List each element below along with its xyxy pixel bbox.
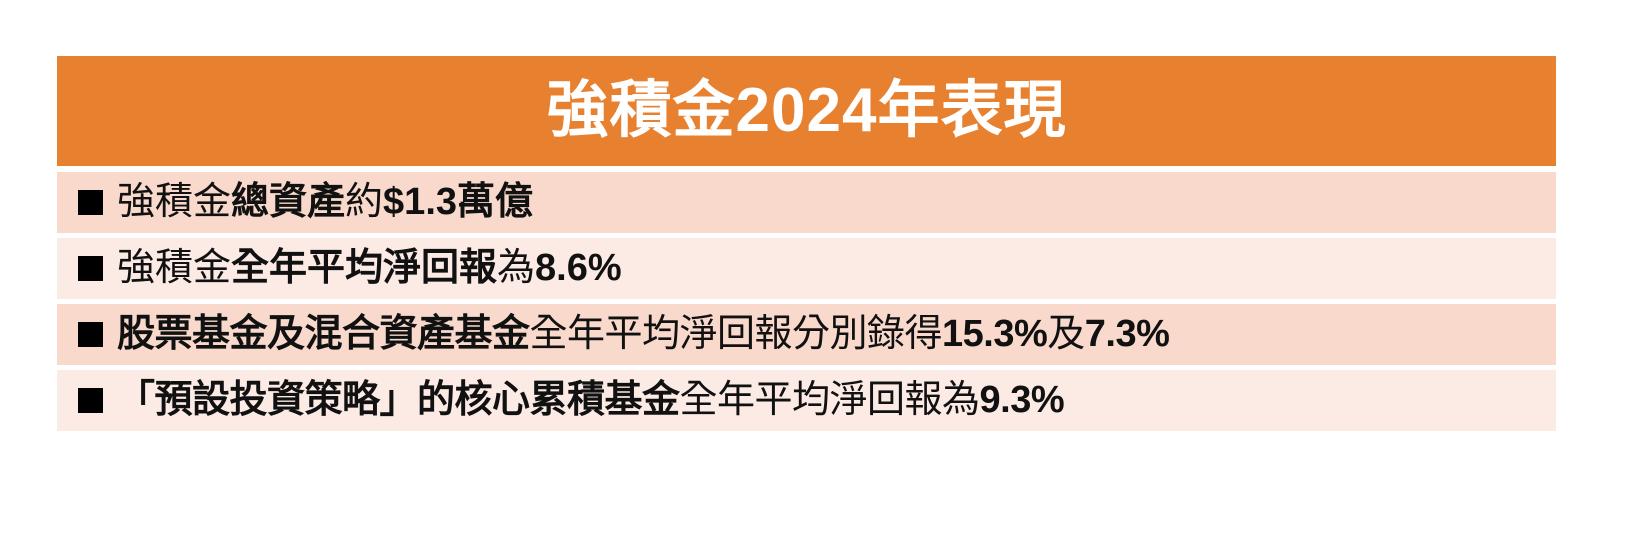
fact-segment-emphasis: 「預設投資策略」的核心累積基金 <box>117 379 680 421</box>
title-banner: 強積金2024年表現 <box>57 56 1556 166</box>
fact-segment-value: 7.3% <box>1085 313 1170 355</box>
fact-segment-emphasis: 全年平均淨回報 <box>231 247 497 289</box>
square-bullet-icon <box>78 256 103 281</box>
fact-segment-value: 15.3% <box>942 313 1047 355</box>
fact-row-list: 強積金總資產約$1.3萬億 強積金全年平均淨回報為8.6% 股票基金及混合資產基… <box>57 172 1556 431</box>
fact-segment: 約 <box>345 181 383 223</box>
fact-segment-value: 9.3% <box>980 379 1065 421</box>
fact-row: 強積金全年平均淨回報為8.6% <box>57 238 1556 299</box>
fact-segment-value: 8.6% <box>535 247 622 289</box>
fact-row-text: 強積金總資產約$1.3萬億 <box>117 183 533 223</box>
fact-row-text: 股票基金及混合資產基金全年平均淨回報分別錄得15.3%及7.3% <box>117 315 1169 355</box>
fact-segment: 為 <box>497 247 535 289</box>
fact-row: 股票基金及混合資產基金全年平均淨回報分別錄得15.3%及7.3% <box>57 304 1556 365</box>
page-title: 強積金2024年表現 <box>547 80 1067 142</box>
fact-row-text: 「預設投資策略」的核心累積基金全年平均淨回報為9.3% <box>117 381 1064 421</box>
fact-segment: 及 <box>1047 313 1085 355</box>
fact-segment-value: $1.3萬億 <box>383 181 533 223</box>
mpf-2024-performance-infographic: 強積金2024年表現 強積金總資產約$1.3萬億 強積金全年平均淨回報為8.6%… <box>57 56 1556 431</box>
fact-segment-emphasis: 股票基金及混合資產基金 <box>117 313 530 355</box>
fact-row: 強積金總資產約$1.3萬億 <box>57 172 1556 233</box>
fact-segment: 全年平均淨回報為 <box>680 379 980 421</box>
fact-row-text: 強積金全年平均淨回報為8.6% <box>117 249 622 289</box>
fact-segment: 強積金 <box>117 247 231 289</box>
fact-row: 「預設投資策略」的核心累積基金全年平均淨回報為9.3% <box>57 370 1556 431</box>
square-bullet-icon <box>78 322 103 347</box>
fact-segment: 強積金 <box>117 181 231 223</box>
square-bullet-icon <box>78 388 103 413</box>
fact-segment: 全年平均淨回報分別錄得 <box>530 313 943 355</box>
square-bullet-icon <box>78 190 103 215</box>
fact-segment-emphasis: 總資產 <box>231 181 345 223</box>
